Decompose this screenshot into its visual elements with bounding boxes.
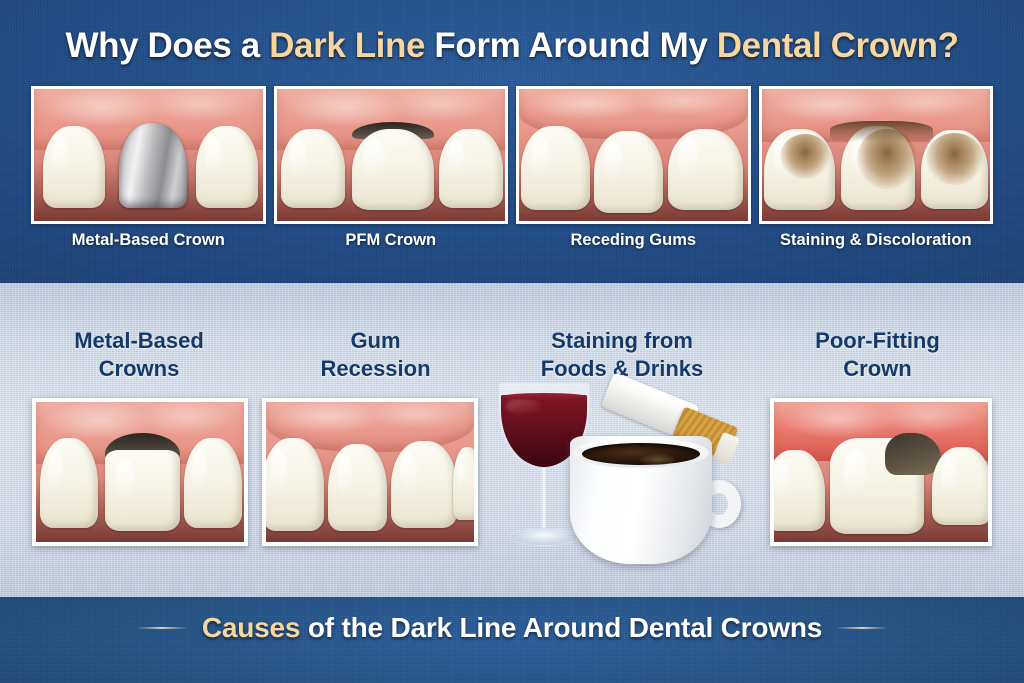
metal-based-crowns-photo [36,402,244,542]
caption-receding-gums: Receding Gums [516,231,751,250]
page-title: Why Does a Dark Line Form Around My Dent… [0,26,1024,66]
gum-recession-photo [266,402,474,542]
tooth-far-right [453,447,474,520]
title-segment-2: Form Around My [425,26,717,65]
mid-label-gum-recession: Gum Recession [258,327,493,383]
top-caption-row: Metal-Based Crown PFM Crown Receding Gum… [31,231,993,250]
photo-frame-staining-discoloration [759,86,994,224]
tooth-right [196,126,258,208]
crowned-tooth-center [352,129,434,211]
coffee-cup-icon [570,436,742,576]
brown-stain-right [926,133,983,186]
footer-accent-causes: Causes [202,612,300,643]
mid-label-poor-fitting-crown: Poor-Fitting Crown [751,327,1004,383]
tooth-right [184,438,242,528]
photo-frame-receding-gums [516,86,751,224]
title-accent-dental-crown: Dental Crown? [717,26,959,65]
receding-gums-photo [519,89,748,221]
title-accent-dark-line: Dark Line [269,26,425,65]
tooth-right [932,447,988,525]
staining-discoloration-photo [762,89,991,221]
brown-stain-left [780,134,830,179]
mid-label-line1: Metal-Based [20,327,258,355]
tooth-left [266,438,324,530]
footer-dash-right-icon [836,627,888,629]
pfm-crown-photo [277,89,506,221]
photo-frame-pfm-crown [274,86,509,224]
wine-surface [502,393,586,400]
tooth-right [668,129,743,211]
metal-crown-photo [34,89,263,221]
footer-title: Causes of the Dark Line Around Dental Cr… [202,612,822,644]
mid-label-metal-based-crowns: Metal-Based Crowns [20,327,258,383]
top-photo-row [31,86,993,224]
tooth-left [281,129,345,208]
tooth-right [439,129,503,208]
mid-label-line1: Staining from [493,327,751,355]
footer-banner: Causes of the Dark Line Around Dental Cr… [0,612,1024,644]
tooth-left [43,126,105,208]
photo-frame-metal-based-crowns [32,398,248,546]
tooth-right [391,441,458,528]
wine-glass-stem [541,468,547,530]
mid-label-line2: Crown [751,355,1004,383]
mid-label-line2: Crowns [20,355,258,383]
tooth-left [40,438,98,528]
infographic-poster: Why Does a Dark Line Form Around My Dent… [0,0,1024,683]
black-coffee-liquid [582,443,700,465]
metal-crown [119,123,188,207]
poor-fitting-crown-photo [774,402,988,542]
mid-label-line2: Recession [258,355,493,383]
tooth-center-exposed-root [594,131,663,213]
tooth-left [521,126,590,210]
wine-coffee-cigarette-photo [492,372,742,580]
mid-label-line1: Poor-Fitting [751,327,1004,355]
coffee-foam [640,454,676,465]
caption-staining-discoloration: Staining & Discoloration [759,231,994,250]
photo-frame-metal-based-crown [31,86,266,224]
caption-pfm-crown: PFM Crown [274,231,509,250]
crowned-tooth-center [105,450,180,531]
footer-rest: of the Dark Line Around Dental Crowns [300,612,822,643]
title-segment-1: Why Does a [65,26,269,65]
mid-label-line1: Gum [258,327,493,355]
tooth-center-exposed-root [328,444,386,531]
gumline-stain-band [830,121,933,142]
photo-frame-gum-recession [262,398,478,546]
footer-dash-left-icon [136,627,188,629]
wine-glass-base [510,528,578,546]
photo-frame-poor-fitting-crown [770,398,992,546]
caption-metal-based-crown: Metal-Based Crown [31,231,266,250]
coffee-cup-body [570,436,712,564]
